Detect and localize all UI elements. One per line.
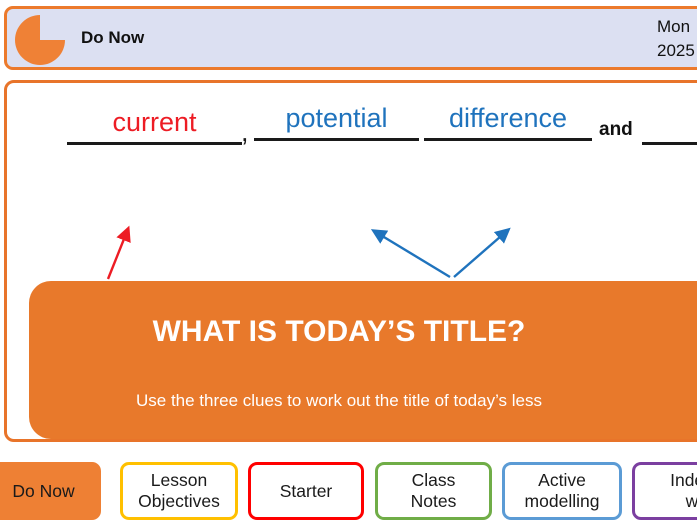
clue-conjunction: and [599, 119, 633, 141]
nav-tab-label: Do Now [12, 481, 74, 502]
header-date-line2: 2025 [657, 39, 695, 63]
clue-blank-empty[interactable] [642, 105, 697, 145]
nav-tab-0[interactable]: Do Now [0, 462, 101, 520]
header-date: Mon 2025 [657, 15, 695, 63]
banner-subtitle: Use the three clues to work out the titl… [29, 391, 649, 411]
arrow-blue-potential [374, 231, 450, 277]
nav-tab-label: Lesson Objectives [138, 470, 220, 512]
clue-blank-current[interactable]: current [67, 105, 242, 145]
banner-title: WHAT IS TODAY’S TITLE? [29, 315, 649, 349]
nav-tab-3[interactable]: Class Notes [375, 462, 492, 520]
title-banner: WHAT IS TODAY’S TITLE? Use the three clu… [29, 281, 697, 439]
clue-comma: , [241, 117, 249, 148]
arrow-red-current [108, 229, 128, 279]
arrow-blue-difference [454, 230, 508, 277]
nav-tab-label: Class Notes [411, 470, 457, 512]
content-panel: current , potential difference and Measu… [4, 80, 697, 442]
clue-row: current , potential difference and [7, 97, 697, 157]
nav-tab-5[interactable]: Indep w [632, 462, 697, 520]
header-bar: Do Now Mon 2025 [4, 6, 697, 70]
bottom-nav: Do NowLesson ObjectivesStarterClass Note… [0, 462, 697, 523]
page-title: Do Now [81, 9, 144, 67]
pie-chart-icon [15, 15, 65, 65]
nav-tab-4[interactable]: Active modelling [502, 462, 622, 520]
nav-tab-label: Indep w [670, 470, 697, 512]
nav-tab-2[interactable]: Starter [248, 462, 364, 520]
clue-blank-potential[interactable]: potential [254, 101, 419, 141]
nav-tab-label: Starter [280, 481, 333, 502]
clue-blank-difference[interactable]: difference [424, 101, 592, 141]
nav-tab-label: Active modelling [525, 470, 600, 512]
nav-tab-1[interactable]: Lesson Objectives [120, 462, 238, 520]
header-date-line1: Mon [657, 15, 695, 39]
